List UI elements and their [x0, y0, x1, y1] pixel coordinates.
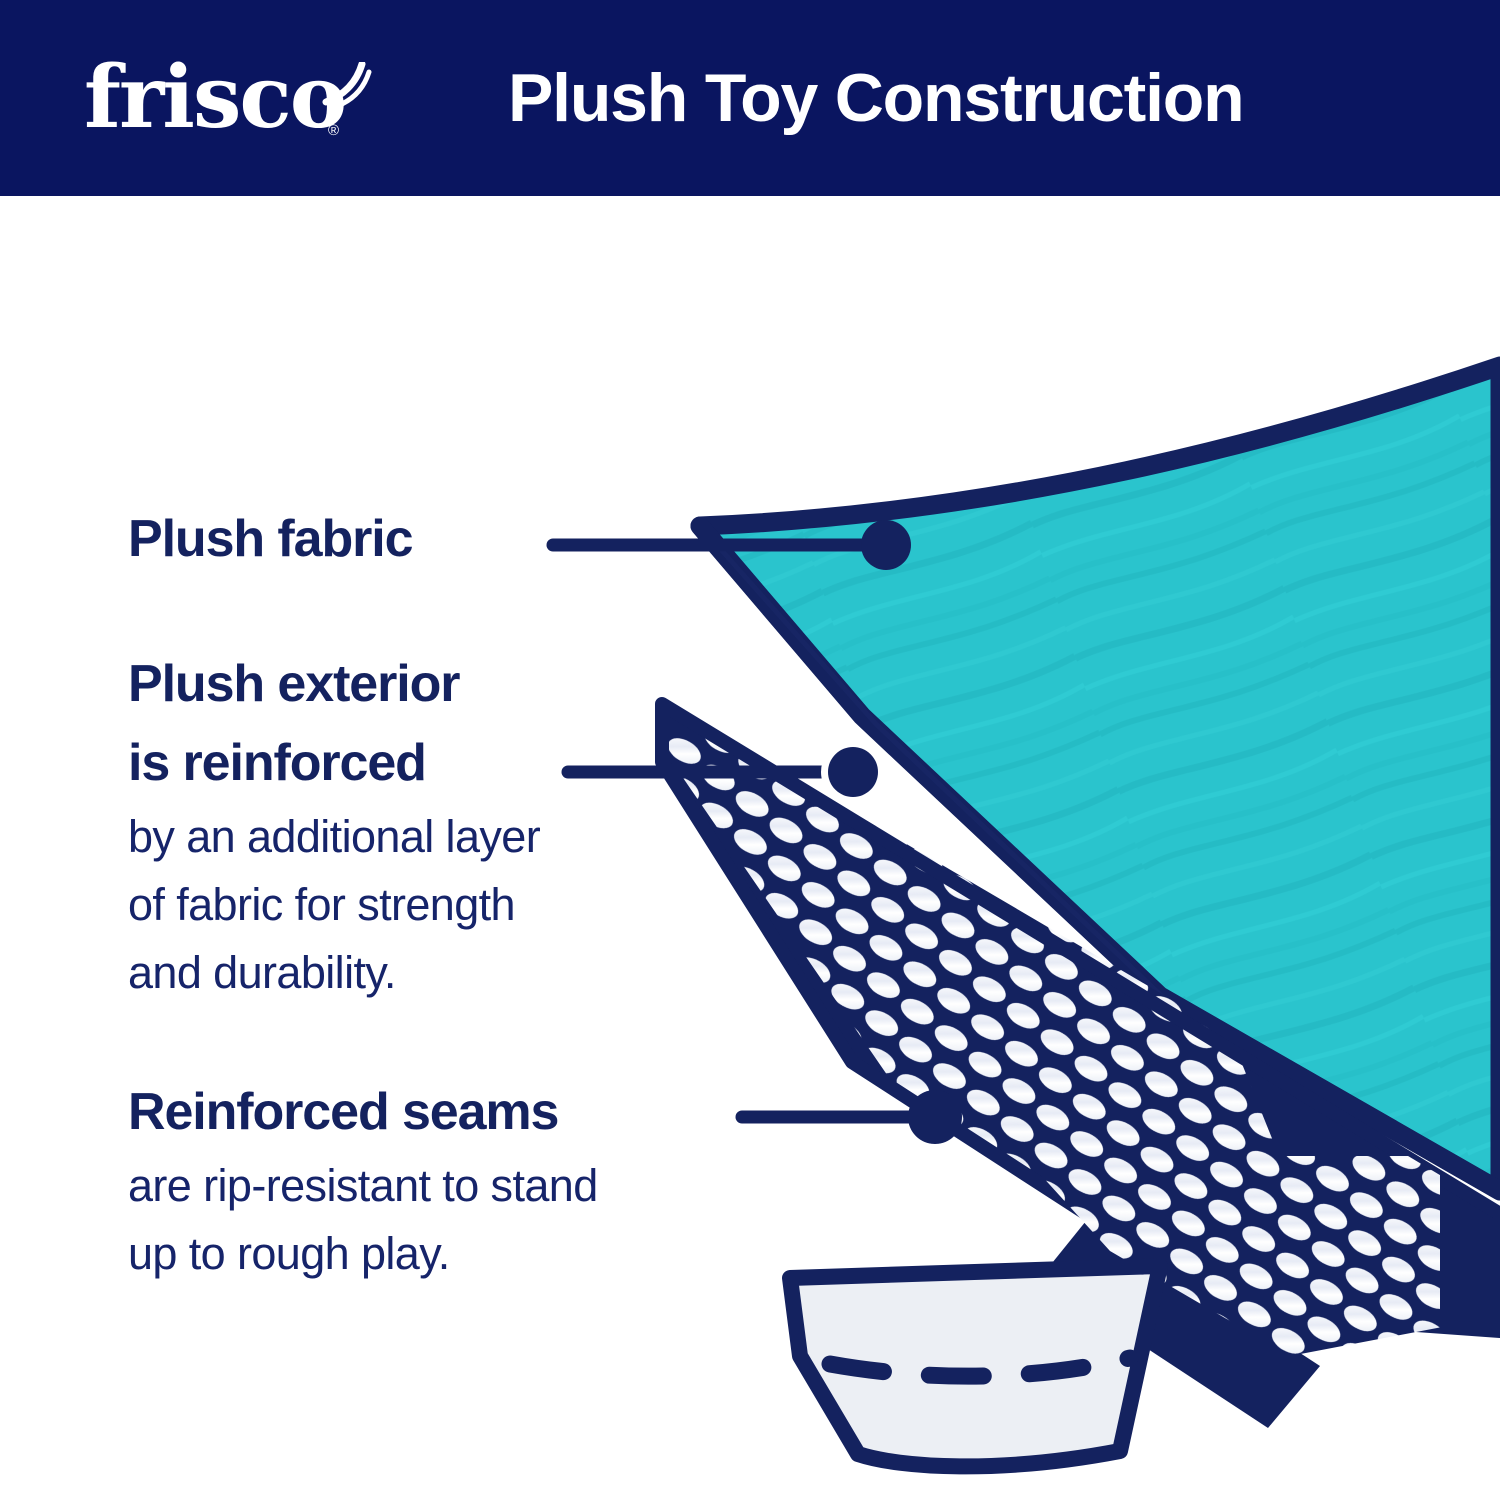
callout-heading-plush-fabric: Plush fabric — [128, 500, 412, 579]
header-bar: frisco ® Plush Toy Construction — [0, 0, 1500, 196]
page-title: Plush Toy Construction — [508, 0, 1243, 196]
leader-dot-plush-exterior — [828, 747, 878, 797]
callout-plush-fabric: Plush fabric — [128, 500, 412, 579]
callout-plush-exterior: Plush exterior is reinforced by an addit… — [128, 645, 540, 1007]
callout-heading-reinforced-seams: Reinforced seams — [128, 1073, 598, 1152]
callout-reinforced-seams: Reinforced seams are rip-resistant to st… — [128, 1073, 598, 1288]
leader-dot-plush-fabric — [861, 520, 911, 570]
callout-body-reinforced-seams: are rip-resistant to stand up to rough p… — [128, 1152, 598, 1288]
infographic-page: frisco ® Plush Toy Construction — [0, 0, 1500, 1500]
logo-swoosh-icon — [322, 62, 376, 106]
seam-flap — [790, 1266, 1160, 1466]
leader-dot-reinforced-seams — [908, 1090, 962, 1144]
registered-mark: ® — [328, 122, 339, 139]
callout-heading-plush-exterior: Plush exterior is reinforced — [128, 645, 540, 803]
leader-reinforced-seams — [742, 1090, 962, 1144]
frisco-logo: frisco ® — [84, 44, 384, 152]
callout-body-plush-exterior: by an additional layer of fabric for str… — [128, 803, 540, 1007]
